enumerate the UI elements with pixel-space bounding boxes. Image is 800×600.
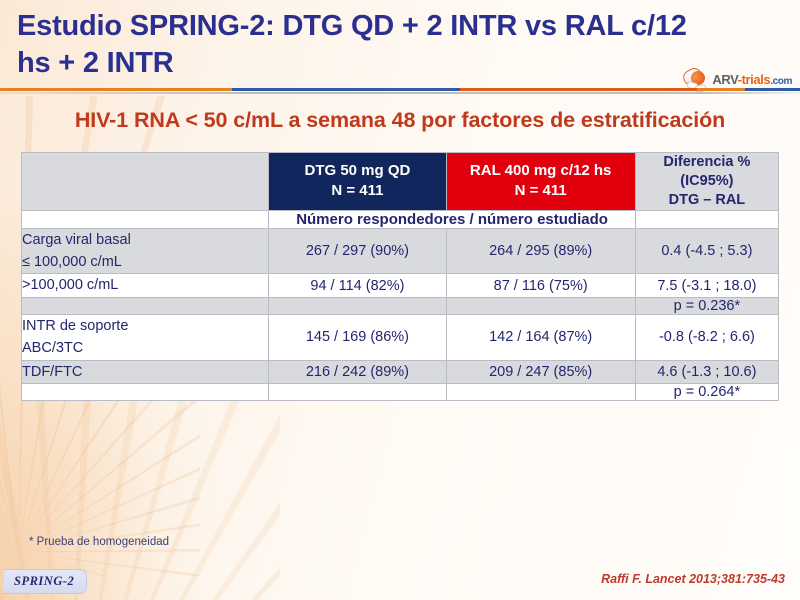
logo-text-trials: -trials <box>738 72 771 87</box>
subheader-blank-left <box>22 210 269 228</box>
header-dtg-line2: N = 411 <box>269 181 445 201</box>
table-row: >100,000 c/mL 94 / 114 (82%) 87 / 116 (7… <box>22 274 779 297</box>
table-row: TDF/FTC 216 / 242 (89%) 209 / 247 (85%) … <box>22 360 779 383</box>
header-ral-line2: N = 411 <box>447 181 635 201</box>
row-ral-viral-load-high: 87 / 116 (75%) <box>446 274 635 297</box>
pvalue2-blank-dtg <box>269 384 446 401</box>
pvalue1-blank-label <box>22 297 269 314</box>
pvalue-row-1: p = 0.236* <box>22 297 779 314</box>
logo-wordmark: ARV-trials.com <box>712 72 792 87</box>
row-label-viral-load-low: Carga viral basal ≤ 100,000 c/mL <box>22 228 269 274</box>
header-ral-cell: RAL 400 mg c/12 hs N = 411 <box>446 153 635 211</box>
table-header-row: DTG 50 mg QD N = 411 RAL 400 mg c/12 hs … <box>22 153 779 211</box>
row-diff-abc3tc: -0.8 (-8.2 ; 6.6) <box>635 314 778 360</box>
pvalue-2: p = 0.264* <box>635 384 778 401</box>
citation-reference: Raffi F. Lancet 2013;381:735-43 <box>601 572 785 586</box>
header-ral-line1: RAL 400 mg c/12 hs <box>447 161 635 181</box>
page-title: Estudio SPRING-2: DTG QD + 2 INTR vs RAL… <box>17 8 717 82</box>
pvalue-1: p = 0.236* <box>635 297 778 314</box>
results-table: DTG 50 mg QD N = 411 RAL 400 mg c/12 hs … <box>21 152 779 401</box>
pvalue1-blank-ral <box>446 297 635 314</box>
row-label-viral-load-high: >100,000 c/mL <box>22 274 269 297</box>
study-badge: SPRING-2 <box>4 569 87 594</box>
row-diff-viral-load-high: 7.5 (-3.1 ; 18.0) <box>635 274 778 297</box>
pvalue1-blank-dtg <box>269 297 446 314</box>
subheader-blank-right <box>635 210 778 228</box>
header-diff-line2: (IC95%) <box>636 172 778 191</box>
row-ral-viral-load-low: 264 / 295 (89%) <box>446 228 635 274</box>
header-difference-cell: Diferencia % (IC95%) DTG – RAL <box>635 153 778 211</box>
row-dtg-viral-load-high: 94 / 114 (82%) <box>269 274 446 297</box>
row-ral-tdfftc: 209 / 247 (85%) <box>446 360 635 383</box>
row-label-abc3tc: INTR de soporte ABC/3TC <box>22 314 269 360</box>
logo-text-com: .com <box>770 76 792 87</box>
header-diff-line3: DTG – RAL <box>636 191 778 210</box>
slide-subtitle: HIV-1 RNA < 50 c/mL a semana 48 por fact… <box>0 108 800 133</box>
header-diff-line1: Diferencia % <box>636 153 778 172</box>
pvalue-row-2: p = 0.264* <box>22 384 779 401</box>
table-subheader-row: Número respondedores / número estudiado <box>22 210 779 228</box>
header-blank-cell <box>22 153 269 211</box>
logo-text-arv: ARV <box>712 72 737 87</box>
pvalue2-blank-label <box>22 384 269 401</box>
row-ral-abc3tc: 142 / 164 (87%) <box>446 314 635 360</box>
header-dtg-cell: DTG 50 mg QD N = 411 <box>269 153 446 211</box>
table-row: INTR de soporte ABC/3TC 145 / 169 (86%) … <box>22 314 779 360</box>
row-dtg-abc3tc: 145 / 169 (86%) <box>269 314 446 360</box>
header-dtg-line1: DTG 50 mg QD <box>269 161 445 181</box>
row-diff-viral-load-low: 0.4 (-4.5 ; 5.3) <box>635 228 778 274</box>
subheader-label: Número respondedores / número estudiado <box>269 210 635 228</box>
row-label-tdfftc: TDF/FTC <box>22 360 269 383</box>
footnote: * Prueba de homogeneidad <box>29 536 169 548</box>
row-dtg-tdfftc: 216 / 242 (89%) <box>269 360 446 383</box>
table-row: Carga viral basal ≤ 100,000 c/mL 267 / 2… <box>22 228 779 274</box>
header-divider <box>0 88 800 98</box>
pvalue2-blank-ral <box>446 384 635 401</box>
row-diff-tdfftc: 4.6 (-1.3 ; 10.6) <box>635 360 778 383</box>
row-dtg-viral-load-low: 267 / 297 (90%) <box>269 228 446 274</box>
